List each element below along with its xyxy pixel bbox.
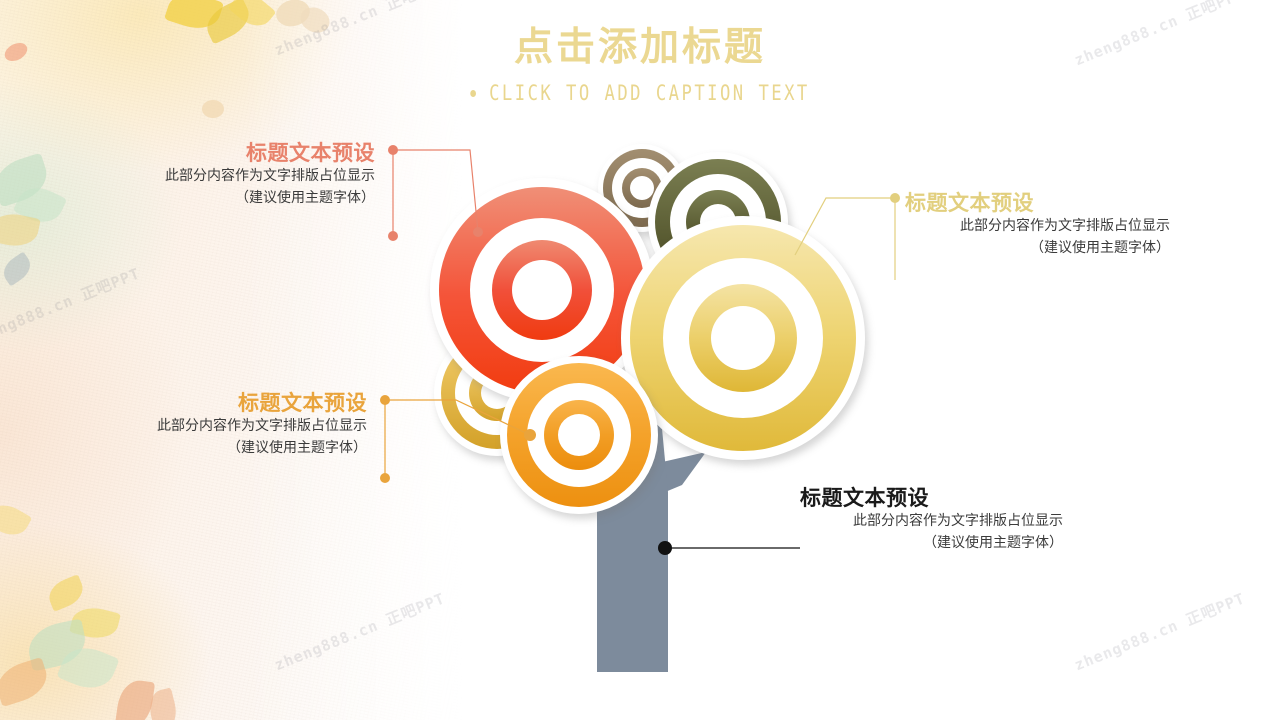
callout-mid-left-title: 标题文本预设 xyxy=(95,390,367,416)
connector-dot-top-left-c xyxy=(473,227,483,237)
connector-dot-mid-left-c xyxy=(524,429,536,441)
callout-top-left[interactable]: 标题文本预设 此部分内容作为文字排版占位显示 （建议使用主题字体） xyxy=(100,140,375,210)
connector-dot-top-right-a xyxy=(890,193,900,203)
callout-top-left-title: 标题文本预设 xyxy=(100,140,375,166)
callout-connectors xyxy=(0,0,1280,720)
callout-top-left-body-line2: （建议使用主题字体） xyxy=(100,188,375,210)
connector-dot-top-left-a xyxy=(388,145,398,155)
callout-bottom-right-body-line2: （建议使用主题字体） xyxy=(800,533,1063,555)
connector-top-right xyxy=(795,198,895,280)
callout-mid-left[interactable]: 标题文本预设 此部分内容作为文字排版占位显示 （建议使用主题字体） xyxy=(95,390,367,460)
connector-mid-left xyxy=(385,400,530,478)
callout-bottom-right-body-line1: 此部分内容作为文字排版占位显示 xyxy=(800,511,1063,533)
connector-top-left xyxy=(393,150,478,236)
callout-mid-left-body-line2: （建议使用主题字体） xyxy=(95,438,367,460)
connector-dot-top-left-b xyxy=(388,231,398,241)
callout-top-right-body-line1: 此部分内容作为文字排版占位显示 xyxy=(905,216,1170,238)
callout-top-right-title: 标题文本预设 xyxy=(905,190,1170,216)
connector-dot-bottom-right xyxy=(658,541,672,555)
connector-dot-mid-left-b xyxy=(380,473,390,483)
connector-dot-mid-left-a xyxy=(380,395,390,405)
slide-canvas: 点击添加标题 CLICK TO ADD CAPTION TEXT xyxy=(0,0,1280,720)
callout-top-left-body-line1: 此部分内容作为文字排版占位显示 xyxy=(100,166,375,188)
callout-bottom-right-title: 标题文本预设 xyxy=(800,485,1063,511)
callout-top-right[interactable]: 标题文本预设 此部分内容作为文字排版占位显示 （建议使用主题字体） xyxy=(905,190,1170,260)
callout-top-right-body-line2: （建议使用主题字体） xyxy=(905,238,1170,260)
callout-bottom-right[interactable]: 标题文本预设 此部分内容作为文字排版占位显示 （建议使用主题字体） xyxy=(800,485,1063,555)
callout-mid-left-body-line1: 此部分内容作为文字排版占位显示 xyxy=(95,416,367,438)
